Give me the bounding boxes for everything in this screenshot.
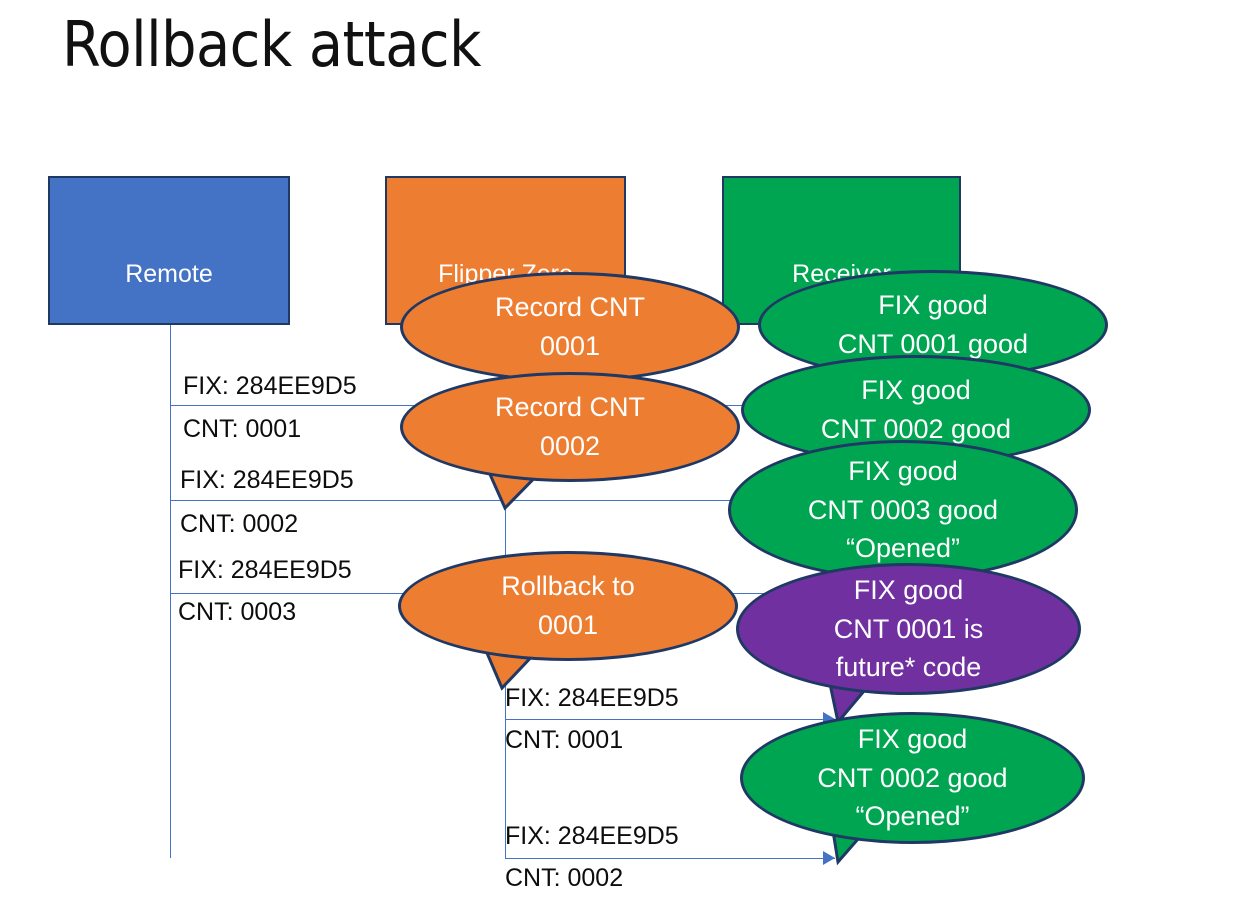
callout-line: FIX good (858, 720, 968, 759)
message-label-fix-2: FIX: 284EE9D5 (180, 466, 354, 495)
callout-cnt-0002-opened[interactable]: FIX good CNT 0002 good “Opened” (740, 712, 1085, 844)
callout-line: FIX good (854, 571, 964, 610)
callout-line: “Opened” (855, 797, 969, 836)
message-line-4 (505, 719, 835, 720)
message-label-cnt-4: CNT: 0001 (505, 726, 623, 755)
callout-rollback-to-0001[interactable]: Rollback to 0001 (398, 551, 738, 661)
callout-line: FIX good (848, 452, 958, 491)
callout-line: 0002 (540, 427, 600, 466)
callout-record-cnt-0002[interactable]: Record CNT 0002 (400, 372, 740, 482)
callout-record-cnt-0001[interactable]: Record CNT 0001 (400, 272, 740, 382)
message-label-fix-3: FIX: 284EE9D5 (178, 556, 352, 585)
callout-line: CNT 0001 is (834, 610, 984, 649)
callout-line: CNT 0002 good (817, 759, 1007, 798)
callout-line: future* code (836, 648, 982, 687)
callout-cnt-0001-future-code[interactable]: FIX good CNT 0001 is future* code (736, 563, 1081, 695)
callout-line: CNT 0003 good (808, 491, 998, 530)
page-title: Rollback attack (62, 8, 481, 81)
message-line-5 (505, 858, 835, 859)
slide-canvas: Rollback attack FIX: 284EE9D5 CNT: 0001 … (0, 0, 1233, 898)
message-arrowhead-5 (823, 851, 835, 865)
callout-line: 0001 (538, 606, 598, 645)
message-label-fix-1: FIX: 284EE9D5 (183, 372, 357, 401)
message-label-cnt-3: CNT: 0003 (178, 598, 296, 627)
callout-line: FIX good (878, 286, 988, 325)
message-label-cnt-2: CNT: 0002 (180, 510, 298, 539)
message-label-fix-5: FIX: 284EE9D5 (505, 822, 679, 851)
callout-cnt-0003-opened[interactable]: FIX good CNT 0003 good “Opened” (728, 440, 1078, 580)
callout-line: FIX good (861, 371, 971, 410)
message-label-cnt-5: CNT: 0002 (505, 864, 623, 893)
actor-box-remote[interactable]: Remote (48, 176, 290, 325)
actor-label-remote: Remote (125, 260, 213, 289)
message-label-cnt-1: CNT: 0001 (183, 415, 301, 444)
callout-line: Record CNT (495, 288, 645, 327)
callout-line: 0001 (540, 327, 600, 366)
callout-line: Rollback to (501, 567, 635, 606)
callout-line: Record CNT (495, 388, 645, 427)
message-label-fix-4: FIX: 284EE9D5 (505, 684, 679, 713)
